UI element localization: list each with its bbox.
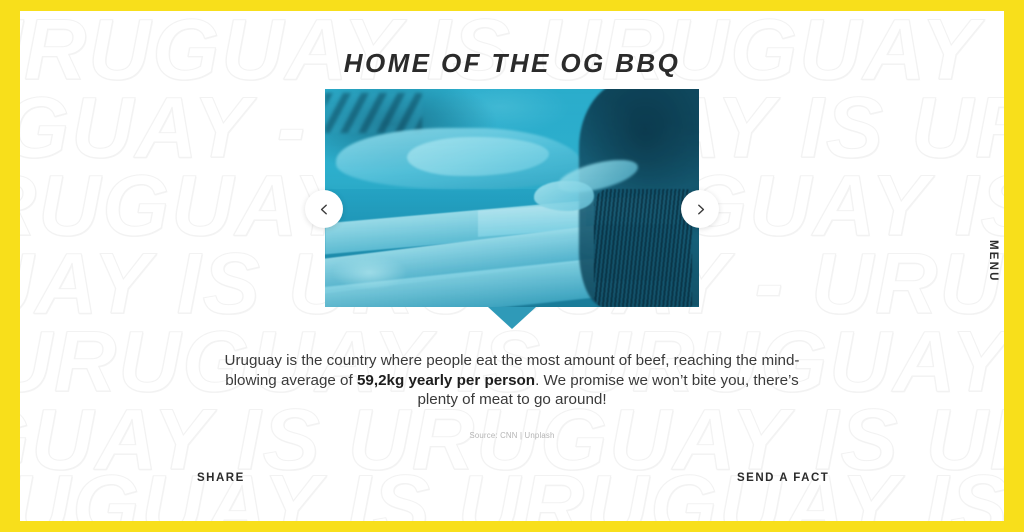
source-credit: Source: CNN | Unplash <box>20 431 1004 440</box>
caption-highlight: 59,2kg yearly per person <box>357 372 535 389</box>
hero-notch-triangle <box>488 307 536 329</box>
page-frame: URUGUAY IS URUGUAY IS URUGUAY - URUGUAY … <box>0 0 1024 532</box>
share-button[interactable]: SHARE <box>197 472 245 484</box>
fact-caption: Uruguay is the country where people eat … <box>206 351 818 410</box>
carousel-next-button[interactable] <box>681 190 719 228</box>
menu-button[interactable]: MENU <box>987 240 999 283</box>
chevron-left-icon <box>318 203 331 216</box>
chevron-right-icon <box>694 203 707 216</box>
hero-photo <box>325 89 699 307</box>
watermark-row: URUGUAY IS URUGUAY IS URUG <box>20 463 1004 521</box>
photo-duotone-tint <box>325 89 699 307</box>
page-content: URUGUAY IS URUGUAY IS URUGUAY - URUGUAY … <box>20 11 1004 521</box>
send-a-fact-button[interactable]: SEND A FACT <box>737 472 829 484</box>
watermark-row: URUGUAY IS URUGUAY IS URU <box>20 397 1004 483</box>
carousel-prev-button[interactable] <box>305 190 343 228</box>
page-title: HOME OF THE OG BBQ <box>20 48 1004 79</box>
hero-carousel <box>325 89 699 307</box>
